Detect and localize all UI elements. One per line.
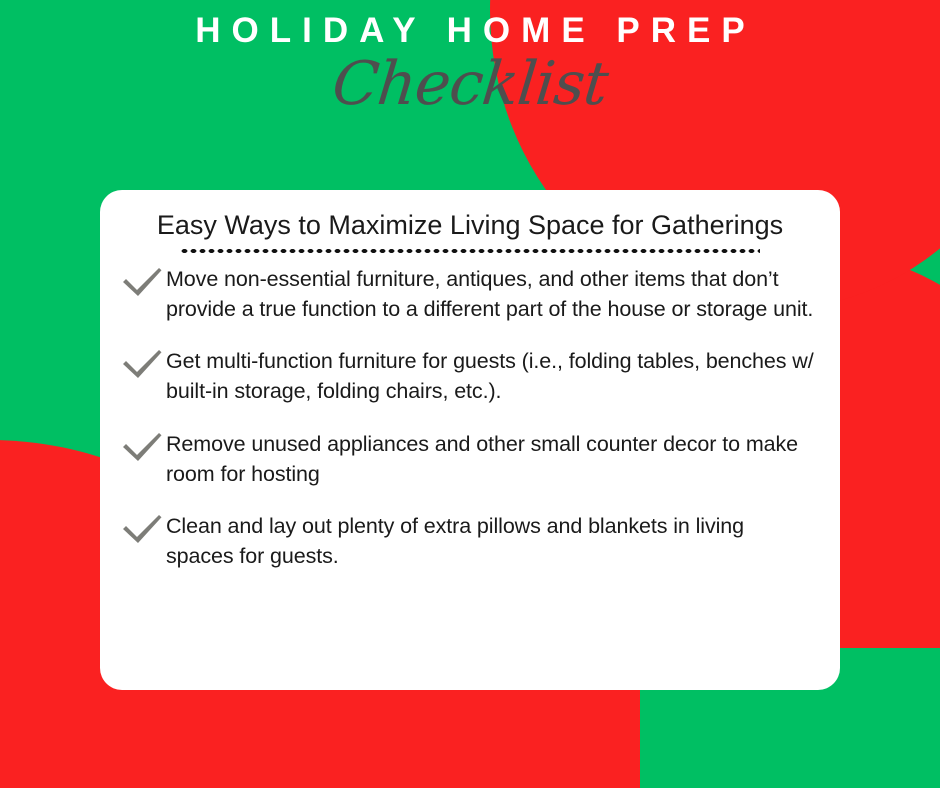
card-heading: Easy Ways to Maximize Living Space for G…	[120, 206, 820, 245]
checklist-card: Easy Ways to Maximize Living Space for G…	[100, 190, 840, 690]
page-title: HOLIDAY HOME PREP	[0, 0, 940, 51]
checkmark-icon	[120, 514, 166, 548]
list-item: Clean and lay out plenty of extra pillow…	[120, 511, 820, 571]
holiday-home-prep-checklist-poster: HOLIDAY HOME PREP Checklist Easy Ways to…	[0, 0, 940, 788]
page-subtitle: Checklist	[0, 51, 940, 116]
list-item-text: Clean and lay out plenty of extra pillow…	[166, 511, 820, 571]
list-item: Remove unused appliances and other small…	[120, 429, 820, 489]
checkmark-icon	[120, 267, 166, 301]
list-item-text: Get multi-function furniture for guests …	[166, 346, 820, 406]
checkmark-icon	[120, 349, 166, 383]
checkmark-icon	[120, 432, 166, 466]
list-item: Get multi-function furniture for guests …	[120, 346, 820, 406]
list-item-text: Move non-essential furniture, antiques, …	[166, 264, 820, 324]
list-item: Move non-essential furniture, antiques, …	[120, 264, 820, 324]
red-bottom-strip	[0, 690, 700, 788]
checklist-items: Move non-essential furniture, antiques, …	[120, 254, 820, 571]
list-item-text: Remove unused appliances and other small…	[166, 429, 820, 489]
poster-header: HOLIDAY HOME PREP Checklist	[0, 0, 940, 116]
